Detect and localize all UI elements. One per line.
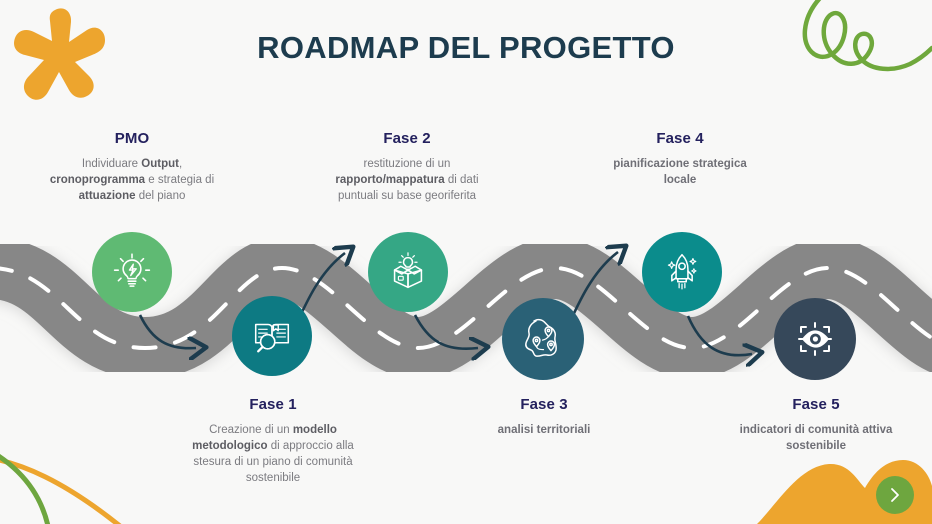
milestone-title-pmo: PMO xyxy=(36,130,228,147)
milestone-circle-fase4[interactable] xyxy=(642,232,722,312)
milestone-circle-fase1[interactable] xyxy=(232,296,312,376)
milestone-desc-fase3: analisi territoriali xyxy=(455,422,633,438)
arrow-pmo-to-fase1 xyxy=(140,315,196,348)
text-block-fase3: Fase 3 analisi territoriali xyxy=(455,396,633,438)
text-block-pmo: PMO Individuare Output,cronoprogramma e … xyxy=(36,130,228,204)
text-block-fase1: Fase 1 Creazione di un modellometodologi… xyxy=(178,396,368,486)
eye-focus-target-icon xyxy=(791,315,839,363)
text-block-fase5: Fase 5 indicatori di comunità attivasost… xyxy=(718,396,914,454)
milestone-title-fase3: Fase 3 xyxy=(455,396,633,413)
milestone-circle-fase2[interactable] xyxy=(368,232,448,312)
next-slide-button[interactable] xyxy=(876,476,914,514)
text-block-fase2: Fase 2 restituzione di unrapporto/mappat… xyxy=(312,130,502,204)
milestone-title-fase1: Fase 1 xyxy=(178,396,368,413)
milestone-title-fase4: Fase 4 xyxy=(584,130,776,147)
milestone-desc-fase4: pianificazione strategicalocale xyxy=(584,156,776,188)
milestone-circle-fase5[interactable] xyxy=(774,298,856,380)
slide-canvas: ROADMAP DEL PROGETTO xyxy=(0,0,932,524)
corner-arcs xyxy=(0,434,150,524)
milestone-title-fase5: Fase 5 xyxy=(718,396,914,413)
milestone-circle-pmo[interactable] xyxy=(92,232,172,312)
book-magnifier-icon xyxy=(249,313,295,359)
text-block-fase4: Fase 4 pianificazione strategicalocale xyxy=(584,130,776,188)
page-title: ROADMAP DEL PROGETTO xyxy=(0,30,932,66)
milestone-desc-fase2: restituzione di unrapporto/mappatura di … xyxy=(312,156,502,204)
milestone-desc-fase1: Creazione di un modellometodologico di a… xyxy=(178,422,368,486)
lightbulb-idea-icon xyxy=(110,250,154,294)
arrow-fase2-to-fase3 xyxy=(415,315,478,349)
map-location-pins-icon xyxy=(519,315,567,363)
rocket-launch-icon xyxy=(659,249,705,295)
open-box-lightbulb-icon xyxy=(385,249,431,295)
milestone-circle-fase3[interactable] xyxy=(502,298,584,380)
milestone-desc-fase5: indicatori di comunità attivasostenibile xyxy=(718,422,914,454)
arrow-fase4-to-fase5 xyxy=(688,316,752,355)
milestone-desc-pmo: Individuare Output,cronoprogramma e stra… xyxy=(36,156,228,204)
chevron-right-icon xyxy=(887,487,903,503)
milestone-title-fase2: Fase 2 xyxy=(312,130,502,147)
